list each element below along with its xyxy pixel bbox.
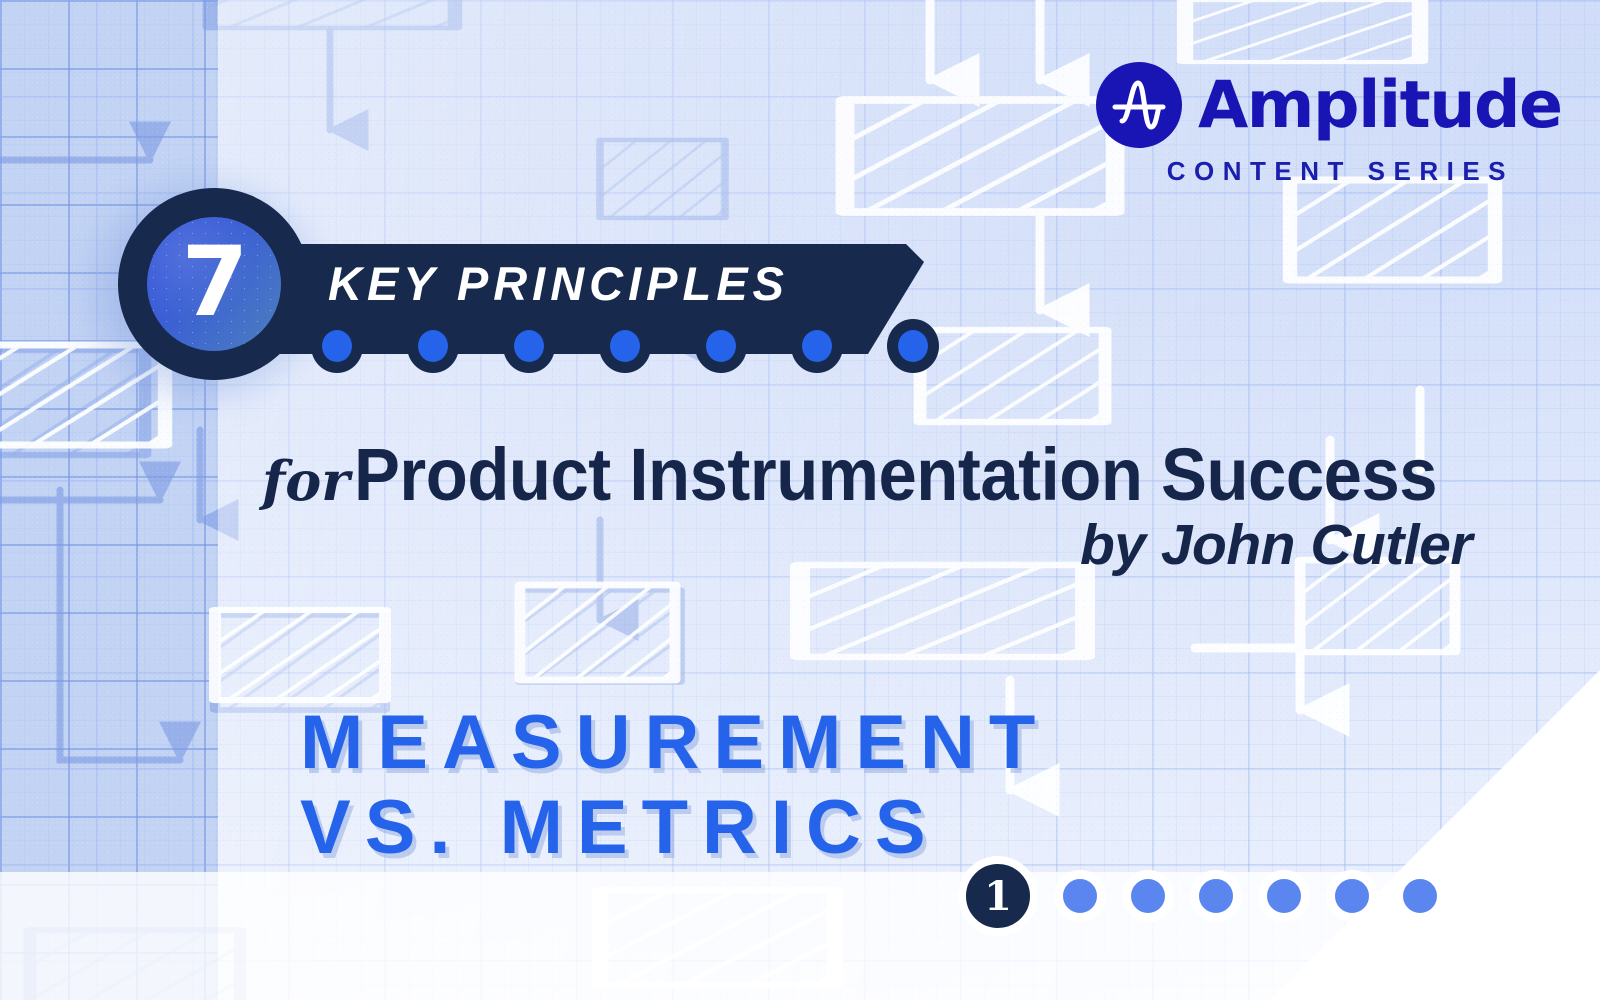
title-prefix: for bbox=[262, 449, 350, 513]
amplitude-logo-icon bbox=[1096, 62, 1182, 148]
slide-canvas: KEY PRINCIPLES 7 Amplitude CONTENT SERIE… bbox=[0, 0, 1600, 1000]
headline-line-2: VS. METRICS bbox=[300, 785, 1049, 870]
pagination-step-dot[interactable] bbox=[1122, 870, 1174, 922]
badge-dot bbox=[610, 330, 640, 362]
badge-dot bbox=[706, 330, 736, 362]
page-title: Product Instrumentation Success bbox=[354, 432, 1437, 517]
badge-dot bbox=[418, 330, 448, 362]
author-byline: by John Cutler bbox=[1080, 512, 1472, 578]
pagination-step-dot[interactable] bbox=[1326, 870, 1378, 922]
title-block: for Product Instrumentation Success bbox=[262, 432, 1492, 517]
badge-number: 7 bbox=[182, 234, 247, 330]
badge-label: KEY PRINCIPLES bbox=[328, 256, 789, 311]
badge-dot bbox=[514, 330, 544, 362]
badge-dot bbox=[322, 330, 352, 362]
brand-logo: Amplitude CONTENT SERIES bbox=[1096, 62, 1516, 187]
badge-number-circle: 7 bbox=[118, 188, 310, 380]
badge-number-inner: 7 bbox=[147, 217, 281, 351]
badge-dot bbox=[802, 330, 832, 362]
brand-name: Amplitude bbox=[1198, 73, 1562, 138]
pagination-current-step[interactable]: 1 bbox=[958, 856, 1038, 936]
badge-dot bbox=[898, 330, 928, 362]
pagination-step-dot[interactable] bbox=[1394, 870, 1446, 922]
step-pagination[interactable]: 1 bbox=[958, 856, 1446, 936]
brand-tagline: CONTENT SERIES bbox=[1096, 156, 1516, 187]
topic-headline: MEASUREMENT VS. METRICS bbox=[300, 700, 1049, 870]
pagination-step-dot[interactable] bbox=[1190, 870, 1242, 922]
pagination-step-dot[interactable] bbox=[1054, 870, 1106, 922]
pagination-step-dot[interactable] bbox=[1258, 870, 1310, 922]
headline-line-1: MEASUREMENT bbox=[300, 700, 1049, 785]
badge-dot-row bbox=[322, 330, 928, 362]
